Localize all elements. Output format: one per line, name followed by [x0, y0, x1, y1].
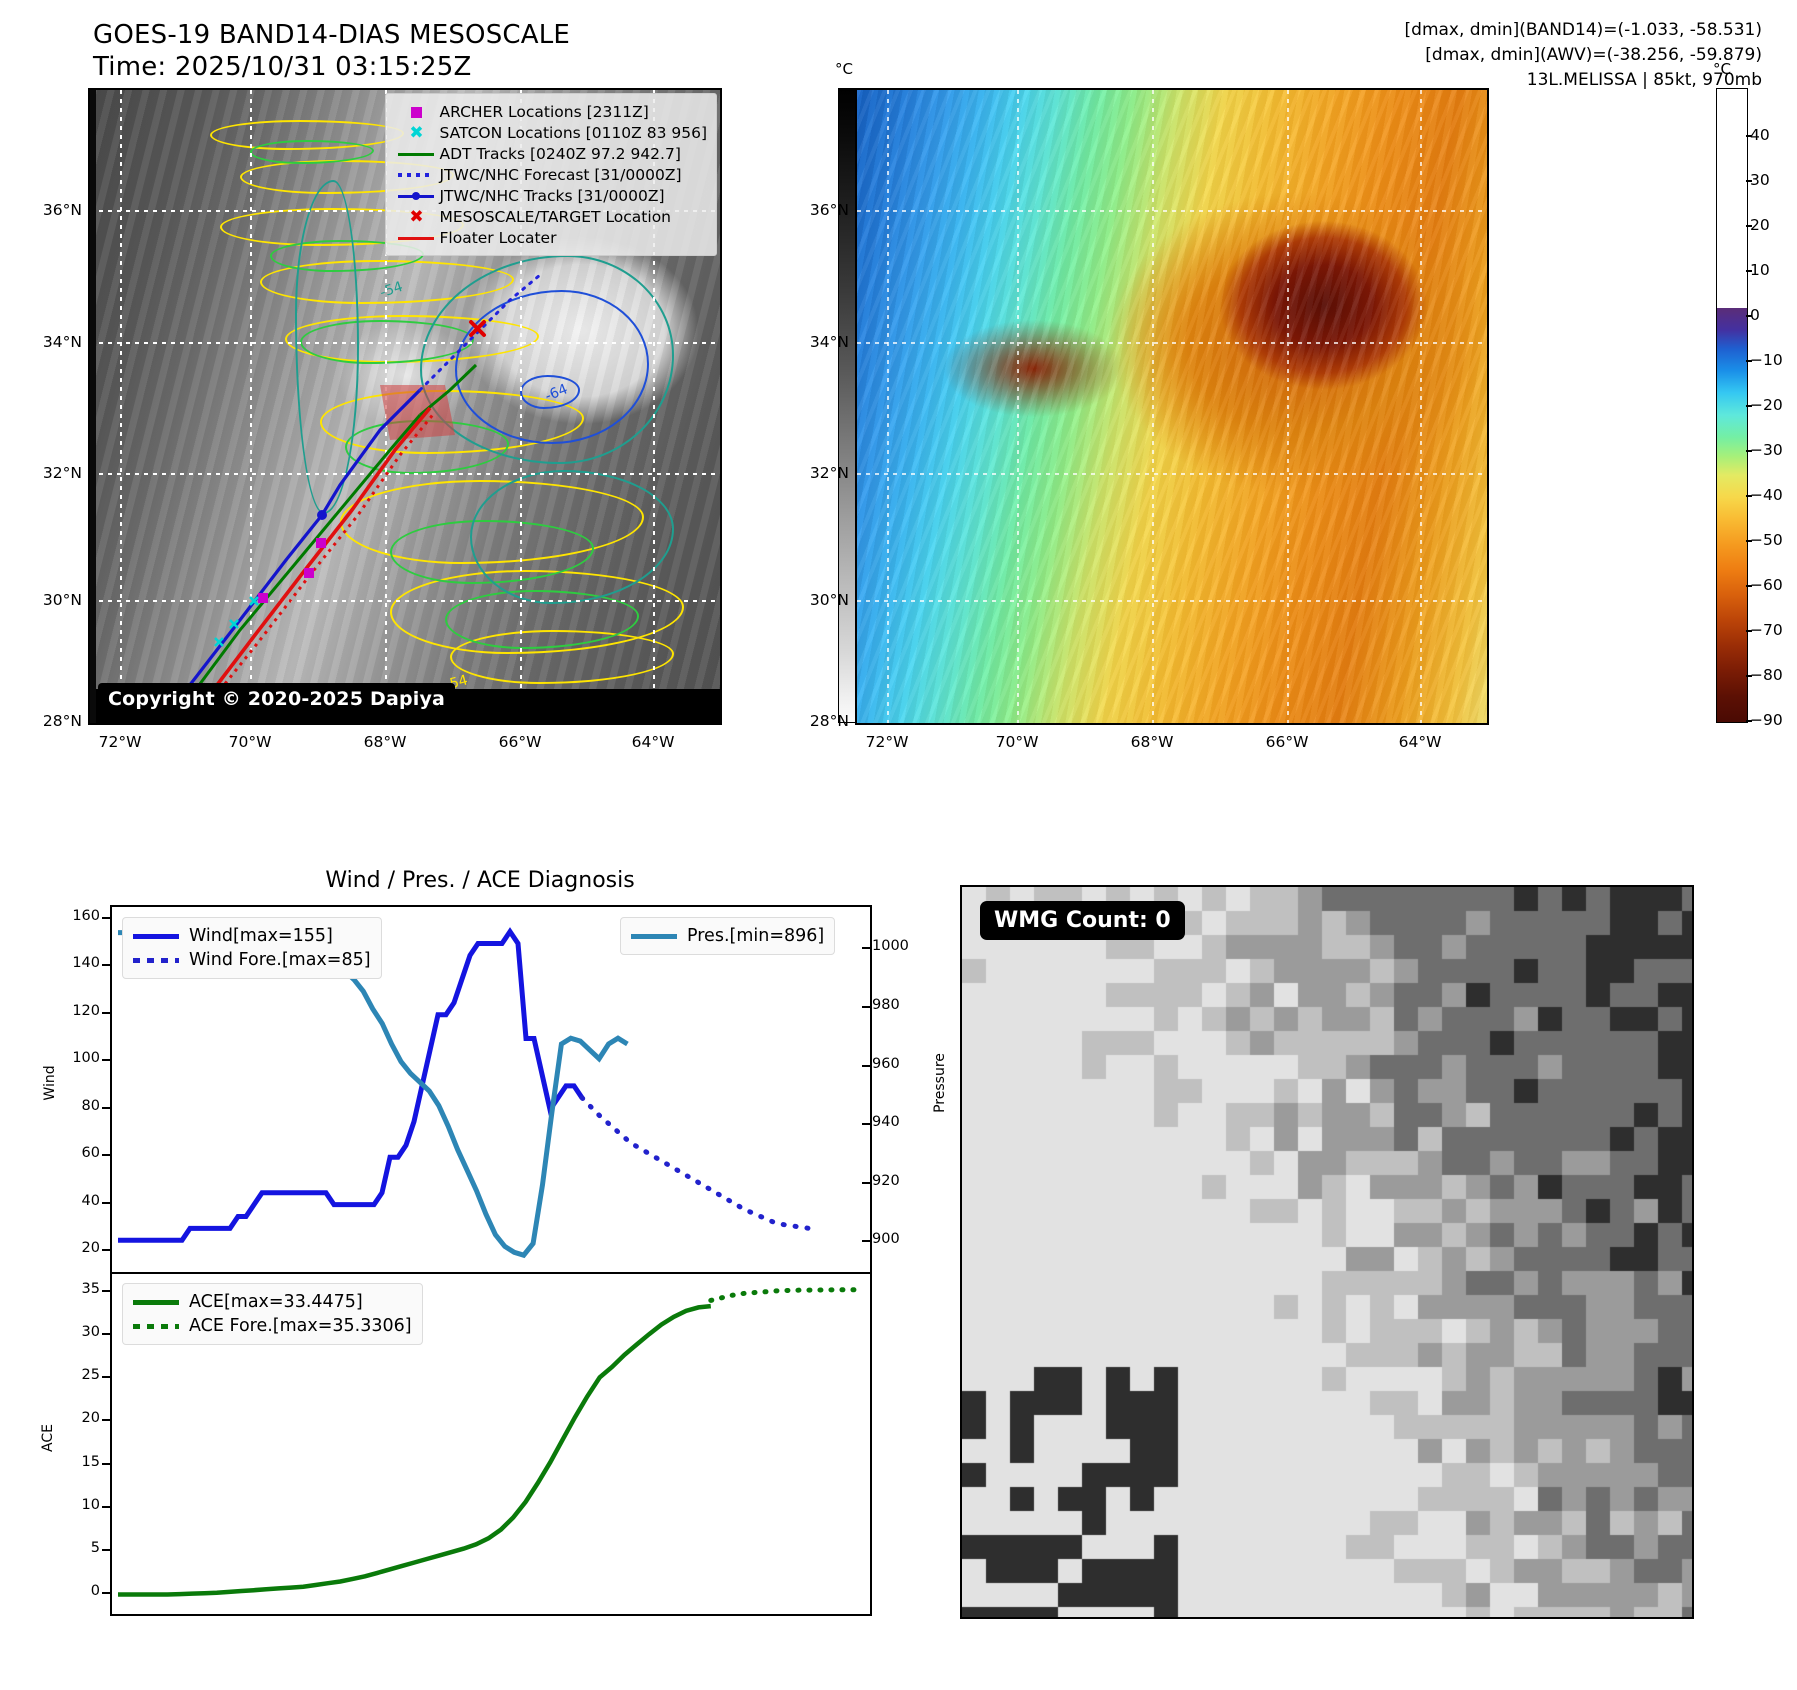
axis-tick-label: 920	[872, 1173, 932, 1189]
axis-tick-label: 0	[40, 1583, 100, 1599]
axis-tick-mark	[102, 1592, 110, 1594]
ir-legend: ARCHER Locations [2311Z] ✖ SATCON Locati…	[385, 93, 717, 256]
axis-tick-label: 80	[40, 1098, 100, 1114]
axis-tick-label: 60	[40, 1145, 100, 1161]
ace-forecast-series	[711, 1290, 863, 1301]
axis-tick-mark	[102, 917, 110, 919]
axis-tick-mark	[102, 1202, 110, 1204]
ir-lat-tick: 36°N	[18, 201, 82, 219]
wind-line-icon	[133, 924, 189, 948]
axis-tick-label: 140	[40, 955, 100, 971]
graticule-line	[1017, 90, 1019, 723]
axis-tick-mark	[862, 1123, 870, 1125]
axis-tick-mark	[102, 1290, 110, 1292]
axis-tick-mark	[102, 1154, 110, 1156]
axis-tick-mark	[862, 1065, 870, 1067]
awv-colorbar-gradient	[1716, 88, 1748, 723]
ir-lat-tick: 34°N	[18, 333, 82, 351]
pressure-legend: Pres.[min=896]	[620, 917, 835, 955]
axis-tick-label: 960	[872, 1056, 932, 1072]
legend-label: Wind Fore.[max=85]	[189, 948, 371, 972]
axis-tick-label: 30	[40, 1324, 100, 1340]
legend-row-adt: ADT Tracks [0240Z 97.2 942.7]	[393, 143, 707, 164]
ir-lon-tick: 70°W	[229, 733, 272, 751]
awv-cb-tick: −20	[1750, 396, 1783, 414]
wmg-count-badge: WMG Count: 0	[980, 901, 1185, 940]
axis-tick-mark	[102, 1249, 110, 1251]
legend-label: ARCHER Locations [2311Z]	[439, 101, 707, 122]
pressure-line-icon	[631, 924, 687, 948]
graticule-line	[1287, 90, 1289, 723]
awv-cb-tick: 30	[1750, 171, 1770, 189]
graticule-line	[1152, 90, 1154, 723]
awv-cb-tick: 10	[1750, 261, 1770, 279]
awv-lon-tick: 68°W	[1131, 733, 1174, 751]
legend-row-wind-forecast: Wind Fore.[max=85]	[133, 948, 371, 972]
awv-lon-tick: 66°W	[1266, 733, 1309, 751]
archer-locations	[258, 538, 326, 603]
page-title: GOES-19 BAND14-DIAS MESOSCALE	[93, 20, 570, 50]
axis-tick-label: 15	[40, 1454, 100, 1470]
ace-line-icon	[133, 1290, 189, 1314]
ir-lon-tick: 72°W	[99, 733, 142, 751]
axis-tick-label: 160	[40, 908, 100, 924]
legend-row-archer: ARCHER Locations [2311Z]	[393, 101, 707, 122]
awv-lat-tick: 36°N	[785, 201, 849, 219]
legend-label: Wind[max=155]	[189, 924, 371, 948]
graticule-line	[1420, 90, 1422, 723]
axis-tick-mark	[102, 1012, 110, 1014]
awv-banding	[857, 90, 1487, 723]
graticule-line	[857, 473, 1487, 475]
jtwc-track-line-icon	[393, 185, 439, 206]
ir-left-bar	[90, 90, 96, 723]
mesoscale-target-marker-icon: ✖	[393, 206, 439, 227]
awv-cb-tick: −10	[1750, 351, 1783, 369]
ir-lat-tick: 28°N	[18, 712, 82, 730]
awv-cb-tick: 40	[1750, 126, 1770, 144]
ir-lat-tick: 30°N	[18, 591, 82, 609]
axis-tick-mark	[102, 1333, 110, 1335]
axis-tick-label: 980	[872, 997, 932, 1013]
awv-lat-tick: 30°N	[785, 591, 849, 609]
legend-label: ACE Fore.[max=35.3306]	[189, 1314, 412, 1338]
axis-tick-label: 25	[40, 1367, 100, 1383]
legend-label: Pres.[min=896]	[687, 924, 824, 948]
copyright-label: Copyright © 2020-2025 Dapiya	[98, 683, 455, 715]
awv-cb-tick: −70	[1750, 621, 1783, 639]
legend-label: Floater Locater	[439, 227, 707, 248]
legend-label: JTWC/NHC Forecast [31/0000Z]	[439, 164, 707, 185]
wmg-raster	[962, 887, 1692, 1617]
legend-row-wind: Wind[max=155]	[133, 924, 371, 948]
awv-cb-tick: −80	[1750, 666, 1783, 684]
graticule-line	[857, 342, 1487, 344]
axis-tick-label: 20	[40, 1240, 100, 1256]
header-stat-awv: [dmax, dmin](AWV)=(-38.256, -59.879)	[862, 43, 1762, 68]
awv-cb-tick: −60	[1750, 576, 1783, 594]
ir-lat-tick: 32°N	[18, 464, 82, 482]
floater-locater-dash	[200, 412, 435, 715]
ir-lon-tick: 64°W	[632, 733, 675, 751]
ir-lon-tick: 66°W	[499, 733, 542, 751]
awv-cb-tick: −30	[1750, 441, 1783, 459]
adt-track	[188, 415, 420, 700]
axis-tick-label: 120	[40, 1003, 100, 1019]
jtwc-track-point	[317, 510, 327, 520]
axis-tick-label: 20	[40, 1410, 100, 1426]
axis-tick-label: 5	[40, 1540, 100, 1556]
axis-tick-mark	[102, 1549, 110, 1551]
awv-cb-tick: −90	[1750, 711, 1783, 729]
legend-row-mesoscale: ✖ MESOSCALE/TARGET Location	[393, 206, 707, 227]
wind-forecast-line-icon	[133, 948, 189, 972]
axis-tick-mark	[102, 1376, 110, 1378]
dashboard-root: GOES-19 BAND14-DIAS MESOSCALE Time: 2025…	[0, 0, 1797, 1690]
awv-cb-tick: −50	[1750, 531, 1783, 549]
legend-row-pressure: Pres.[min=896]	[631, 924, 824, 948]
legend-label: ACE[max=33.4475]	[189, 1290, 412, 1314]
adt-line-icon	[393, 143, 439, 164]
awv-colorbar-unit: °C	[1713, 60, 1731, 78]
diagnosis-chart-title: Wind / Pres. / ACE Diagnosis	[100, 868, 860, 893]
legend-row-satcon: ✖ SATCON Locations [0110Z 83 956]	[393, 122, 707, 143]
axis-tick-label: 900	[872, 1231, 932, 1247]
legend-label: MESOSCALE/TARGET Location	[439, 206, 707, 227]
ace-axis-label: ACE	[40, 1378, 56, 1498]
ir-satellite-image[interactable]: -54 -64 -54	[88, 88, 722, 725]
page-timestamp: Time: 2025/10/31 03:15:25Z	[93, 52, 472, 82]
axis-tick-label: 35	[40, 1281, 100, 1297]
axis-tick-mark	[102, 1506, 110, 1508]
awv-lon-tick: 64°W	[1399, 733, 1442, 751]
awv-lon-tick: 72°W	[866, 733, 909, 751]
axis-tick-mark	[862, 1006, 870, 1008]
axis-tick-mark	[862, 1240, 870, 1242]
graticule-line	[857, 210, 1487, 212]
axis-tick-mark	[102, 1463, 110, 1465]
axis-tick-mark	[102, 1059, 110, 1061]
legend-row-ace: ACE[max=33.4475]	[133, 1290, 412, 1314]
ace-forecast-line-icon	[133, 1314, 189, 1338]
ir-lon-tick: 68°W	[364, 733, 407, 751]
wmg-mask-image[interactable]: WMG Count: 0	[960, 885, 1694, 1619]
axis-tick-mark	[102, 964, 110, 966]
ace-legend: ACE[max=33.4475] ACE Fore.[max=35.3306]	[122, 1283, 423, 1345]
awv-lat-tick: 32°N	[785, 464, 849, 482]
floater-locater	[198, 408, 430, 710]
awv-lon-tick: 70°W	[996, 733, 1039, 751]
axis-tick-mark	[862, 1182, 870, 1184]
axis-tick-mark	[102, 1107, 110, 1109]
axis-tick-mark	[102, 1419, 110, 1421]
legend-row-jtwc-track: JTWC/NHC Tracks [31/0000Z]	[393, 185, 707, 206]
legend-row-floater: Floater Locater	[393, 227, 707, 248]
wind-axis-label: Wind	[42, 1023, 58, 1143]
wind-legend: Wind[max=155] Wind Fore.[max=85]	[122, 917, 382, 979]
archer-marker-icon	[393, 101, 439, 122]
legend-label: SATCON Locations [0110Z 83 956]	[439, 122, 707, 143]
ir-colorbar-unit: °C	[835, 60, 853, 78]
axis-tick-label: 940	[872, 1114, 932, 1130]
awv-lat-tick: 34°N	[785, 333, 849, 351]
floater-locater-line-icon	[393, 227, 439, 248]
jtwc-forecast-line-icon	[393, 164, 439, 185]
ace-series	[118, 1306, 711, 1594]
satcon-marker-icon: ✖	[393, 122, 439, 143]
legend-row-jtwc-forecast: JTWC/NHC Forecast [31/0000Z]	[393, 164, 707, 185]
axis-tick-label: 40	[40, 1193, 100, 1209]
awv-cb-tick: 0	[1750, 306, 1760, 324]
header-stat-band14: [dmax, dmin](BAND14)=(-1.033, -58.531)	[862, 18, 1762, 43]
legend-row-ace-forecast: ACE Fore.[max=35.3306]	[133, 1314, 412, 1338]
pressure-axis-label: Pressure	[932, 1023, 948, 1143]
axis-tick-label: 10	[40, 1497, 100, 1513]
axis-tick-label: 1000	[872, 938, 932, 954]
legend-label: JTWC/NHC Tracks [31/0000Z]	[439, 185, 707, 206]
legend-label: ADT Tracks [0240Z 97.2 942.7]	[439, 143, 707, 164]
axis-tick-mark	[862, 947, 870, 949]
graticule-line	[887, 90, 889, 723]
awv-satellite-image[interactable]	[855, 88, 1489, 725]
wind-forecast-series	[582, 1098, 809, 1229]
graticule-line	[857, 600, 1487, 602]
awv-lat-tick: 28°N	[785, 712, 849, 730]
axis-tick-label: 100	[40, 1050, 100, 1066]
awv-cb-tick: 20	[1750, 216, 1770, 234]
awv-cb-tick: −40	[1750, 486, 1783, 504]
